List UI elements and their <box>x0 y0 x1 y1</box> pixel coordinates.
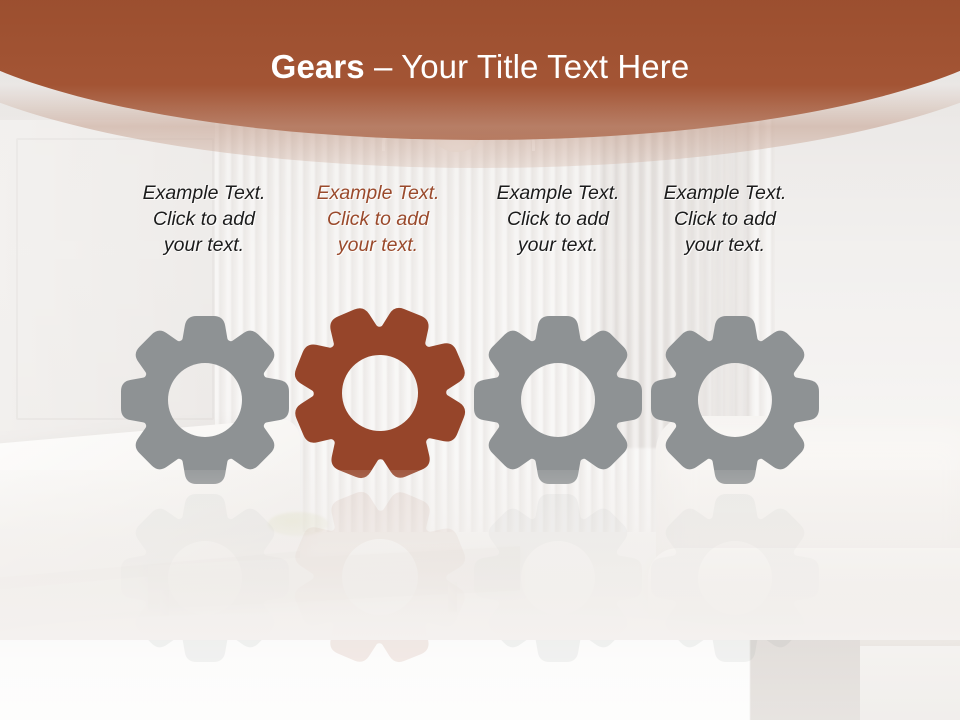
gear-2-reflection <box>287 484 473 670</box>
gear-4[interactable] <box>645 310 825 490</box>
text-placeholder-1[interactable]: Example Text. Click to add your text. <box>116 180 292 258</box>
text-placeholder-3[interactable]: Example Text. Click to add your text. <box>470 180 646 258</box>
page-title-rest: – Your Title Text Here <box>365 48 690 85</box>
page-title-strong: Gears <box>271 48 365 85</box>
gear-3-reflection <box>468 488 648 668</box>
gear-1-reflection <box>115 488 295 668</box>
text-placeholder-4[interactable]: Example Text. Click to add your text. <box>637 180 813 258</box>
text-placeholder-2[interactable]: Example Text. Click to add your text. <box>290 180 466 258</box>
gear-2[interactable] <box>287 300 473 486</box>
gear-4-reflection <box>645 488 825 668</box>
page-title: Gears – Your Title Text Here <box>0 47 960 87</box>
slide-canvas: Gears – Your Title Text Here Example Tex… <box>0 0 960 720</box>
text-placeholder-row: Example Text. Click to add your text. Ex… <box>0 180 960 276</box>
gear-3[interactable] <box>468 310 648 490</box>
gear-1[interactable] <box>115 310 295 490</box>
